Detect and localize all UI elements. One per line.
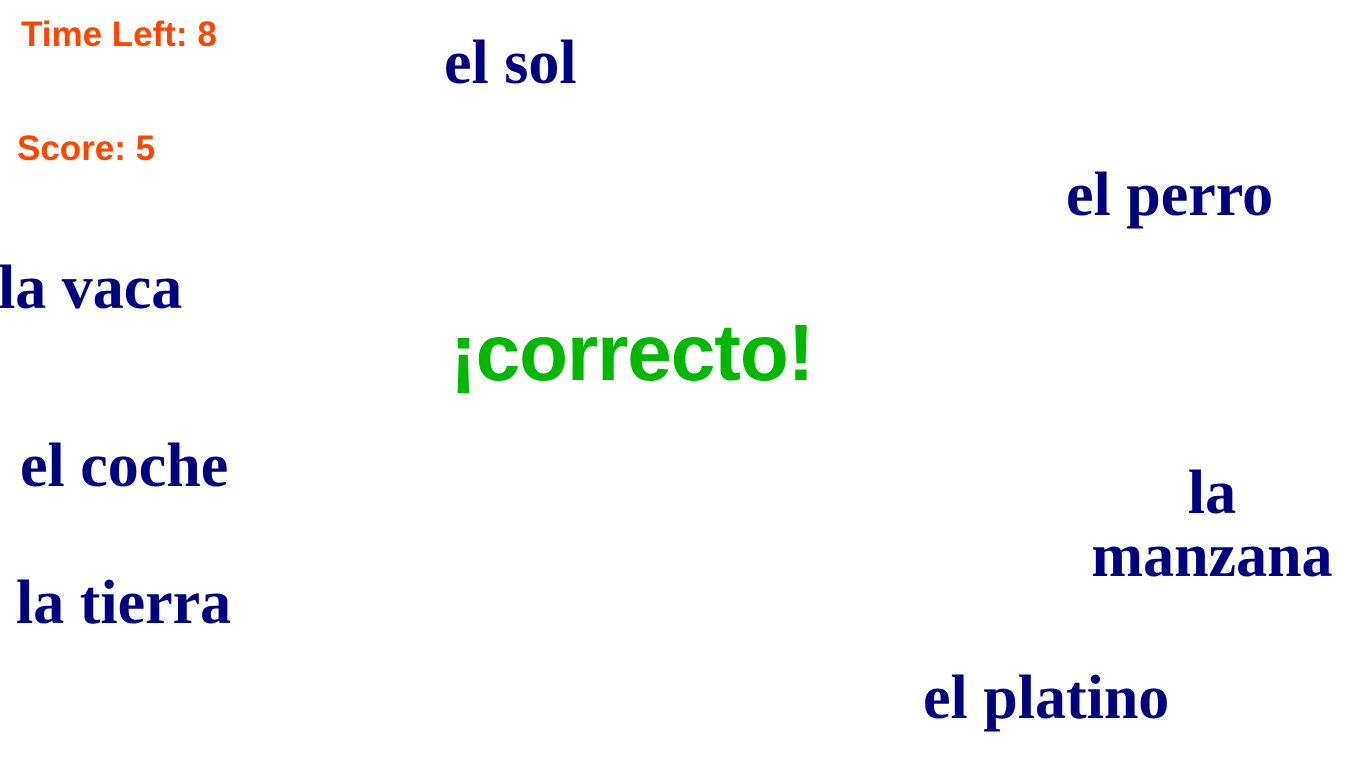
falling-word-vaca[interactable]: la vaca <box>0 257 182 320</box>
falling-word-coche[interactable]: el coche <box>20 435 228 498</box>
score-display: Score: 5 <box>17 131 155 166</box>
falling-word-perro[interactable]: el perro <box>1066 164 1273 227</box>
game-stage: Time Left: 8 Score: 5 el sol el perro la… <box>0 0 1366 768</box>
falling-word-platino[interactable]: el platino <box>923 667 1169 730</box>
time-left-display: Time Left: 8 <box>21 17 217 52</box>
falling-word-manzana[interactable]: la manzana <box>1079 462 1345 588</box>
falling-word-tierra[interactable]: la tierra <box>16 572 231 635</box>
falling-word-sol[interactable]: el sol <box>444 32 577 95</box>
feedback-message: ¡correcto! <box>450 313 813 393</box>
